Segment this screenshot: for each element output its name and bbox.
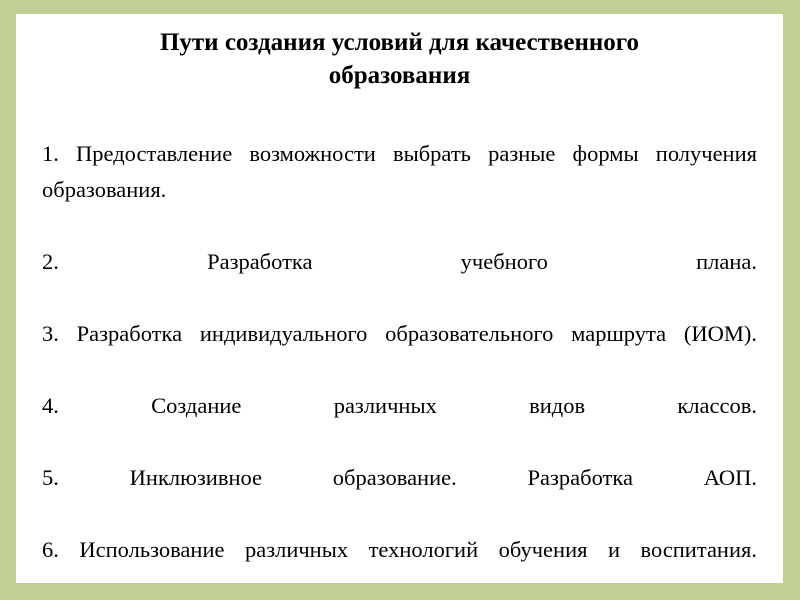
- slide-frame: Пути создания условий для качественного …: [0, 0, 800, 600]
- slide-content-area: Пути создания условий для качественного …: [16, 14, 783, 583]
- list-item: 6. Использование различных технологий об…: [42, 532, 757, 583]
- list-item: 1. Предоставление возможности выбрать ра…: [42, 136, 757, 244]
- list-item: 3. Разработка индивидуального образовате…: [42, 316, 757, 388]
- list-item: 4. Создание различных видов классов.: [42, 388, 757, 460]
- page-title: Пути создания условий для качественного …: [42, 26, 757, 92]
- list-item: 5. Инклюзивное образование. Разработка А…: [42, 460, 757, 532]
- page-title-line-2: образования: [42, 59, 757, 92]
- body-list: 1. Предоставление возможности выбрать ра…: [42, 136, 757, 583]
- page-title-line-1: Пути создания условий для качественного: [42, 26, 757, 59]
- list-item: 2. Разработка учебного плана.: [42, 244, 757, 316]
